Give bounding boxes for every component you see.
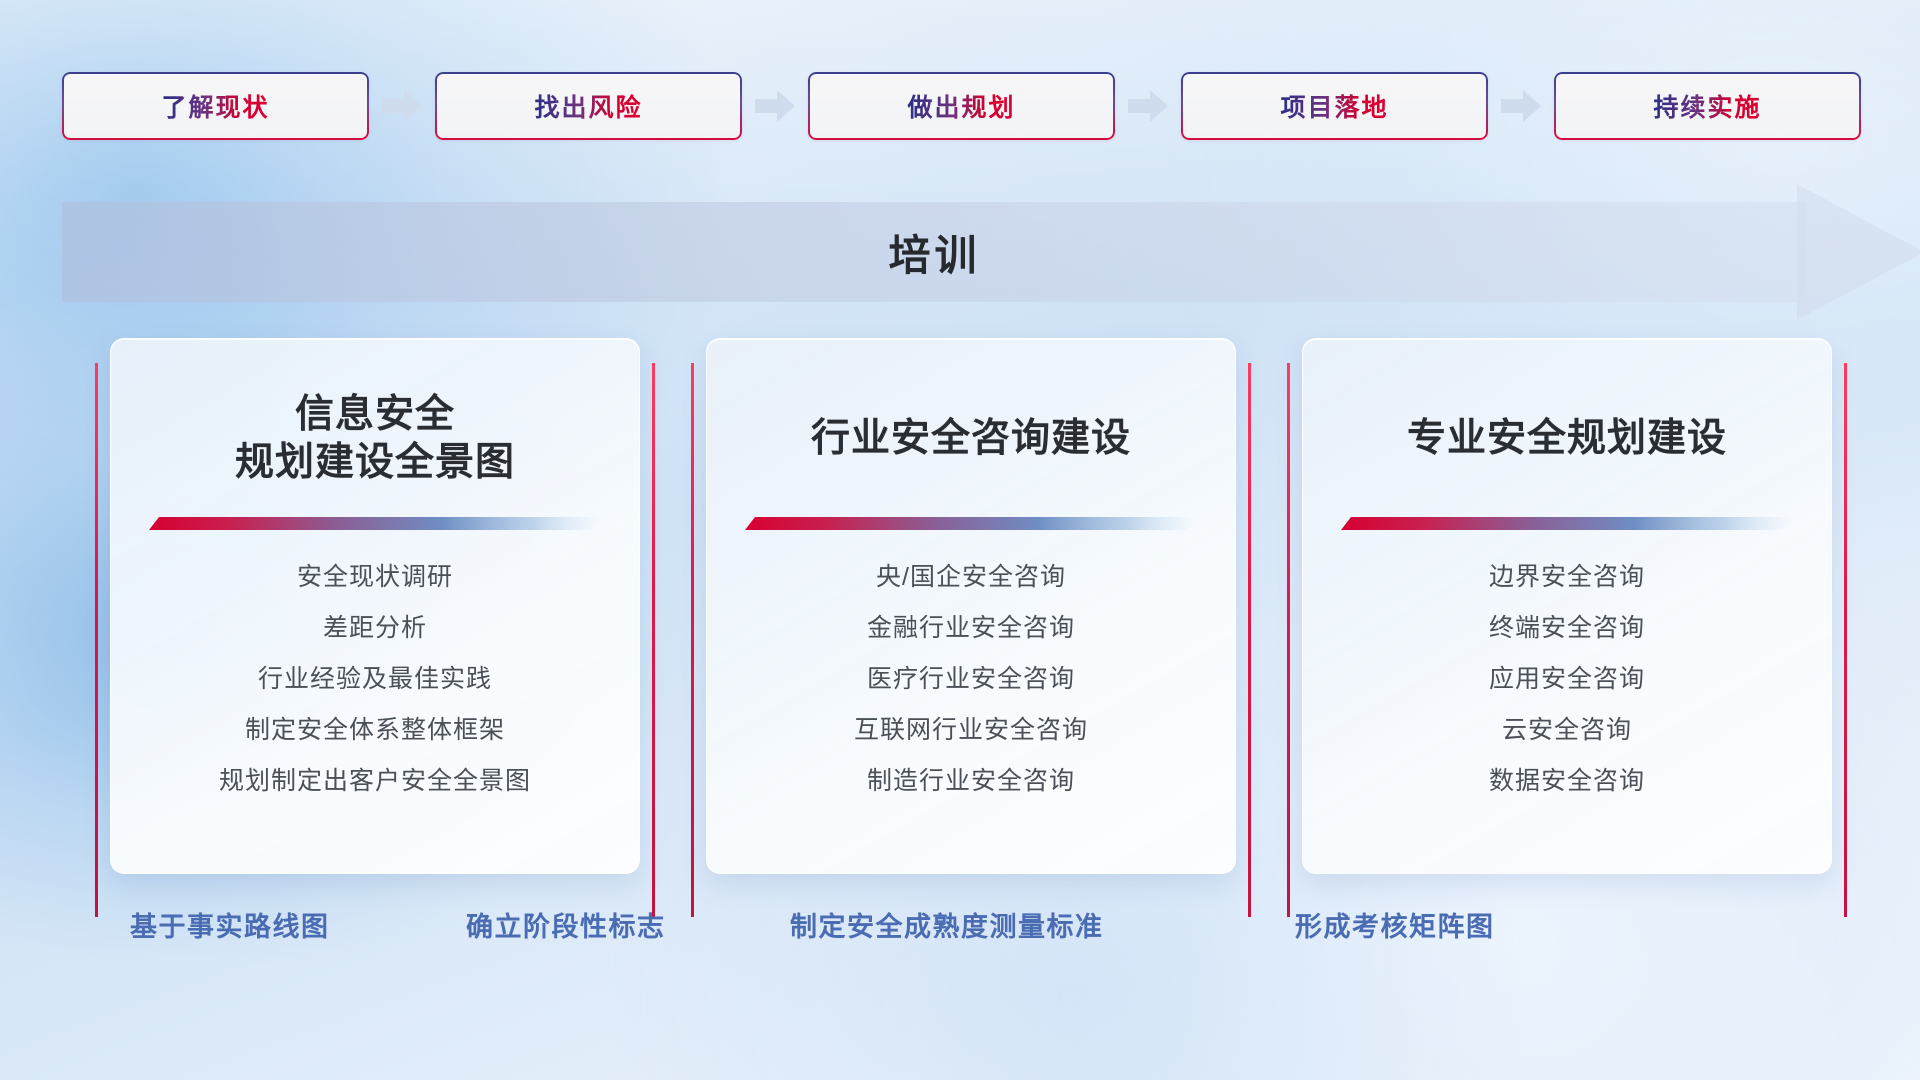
- list-item: 互联网行业安全咨询: [854, 705, 1088, 756]
- training-banner: 培训: [62, 202, 1862, 302]
- process-step-row: 了解现状 找出风险 做出规划 项目落地: [62, 72, 1862, 140]
- outcome-label-row: 基于事实路线图 确立阶段性标志 制定安全成熟度测量标准 形成考核矩阵图: [0, 905, 1920, 965]
- process-step-4-label: 项目落地: [1280, 88, 1388, 124]
- list-item: 央/国企安全咨询: [876, 552, 1066, 603]
- card-2-divider: [745, 517, 1197, 530]
- process-step-1[interactable]: 了解现状: [62, 72, 369, 140]
- list-item: 终端安全咨询: [1489, 603, 1645, 654]
- card-3-divider: [1341, 517, 1793, 530]
- list-item: 数据安全咨询: [1489, 756, 1645, 807]
- card-2-accent-left: [691, 363, 694, 917]
- solution-card-3[interactable]: 专业安全规划建设: [1302, 338, 1832, 874]
- outcome-label-3: 制定安全成熟度测量标准: [790, 905, 1104, 944]
- list-item: 规划制定出客户安全全景图: [219, 756, 531, 807]
- list-item: 云安全咨询: [1502, 705, 1632, 756]
- process-step-5[interactable]: 持续实施: [1554, 72, 1861, 140]
- outcome-label-2: 确立阶段性标志: [466, 905, 666, 944]
- training-banner-label: 培训: [62, 202, 1807, 302]
- arrow-right-icon: [742, 72, 808, 140]
- slide-stage: 了解现状 找出风险 做出规划 项目落地: [0, 0, 1920, 1080]
- list-item: 行业经验及最佳实践: [258, 654, 492, 705]
- card-1-title-line-1: 信息安全: [295, 391, 455, 439]
- process-step-5-label: 持续实施: [1653, 88, 1761, 124]
- list-item: 医疗行业安全咨询: [867, 654, 1075, 705]
- list-item: 边界安全咨询: [1489, 552, 1645, 603]
- process-step-3[interactable]: 做出规划: [808, 72, 1115, 140]
- card-1-title-line-2: 规划建设全景图: [235, 439, 515, 487]
- card-1-title: 信息安全 规划建设全景图: [235, 391, 515, 487]
- solution-card-2[interactable]: 行业安全咨询建设: [706, 338, 1236, 874]
- process-step-2[interactable]: 找出风险: [435, 72, 742, 140]
- process-step-1-label: 了解现状: [161, 88, 269, 124]
- arrow-right-icon: [369, 72, 435, 140]
- list-item: 制定安全体系整体框架: [245, 705, 505, 756]
- list-item: 安全现状调研: [297, 552, 453, 603]
- list-item: 制造行业安全咨询: [867, 756, 1075, 807]
- list-item: 差距分析: [323, 603, 427, 654]
- card-3-accent-left: [1287, 363, 1290, 917]
- list-item: 应用安全咨询: [1489, 654, 1645, 705]
- process-step-3-label: 做出规划: [907, 88, 1015, 124]
- list-item: 金融行业安全咨询: [867, 603, 1075, 654]
- outcome-label-4: 形成考核矩阵图: [1295, 905, 1495, 944]
- card-1-accent-right: [652, 363, 655, 917]
- card-1-item-list: 安全现状调研 差距分析 行业经验及最佳实践 制定安全体系整体框架 规划制定出客户…: [145, 552, 605, 807]
- card-2-accent-right: [1248, 363, 1251, 917]
- solution-card-1[interactable]: 信息安全 规划建设全景图: [110, 338, 640, 874]
- card-1-divider: [149, 517, 601, 530]
- process-step-4[interactable]: 项目落地: [1181, 72, 1488, 140]
- outcome-label-1: 基于事实路线图: [130, 905, 330, 944]
- card-3-item-list: 边界安全咨询 终端安全咨询 应用安全咨询 云安全咨询 数据安全咨询: [1337, 552, 1797, 807]
- card-2-title: 行业安全咨询建设: [811, 391, 1131, 487]
- card-3-accent-right: [1844, 363, 1847, 917]
- card-1-accent-left: [95, 363, 98, 917]
- card-2-item-list: 央/国企安全咨询 金融行业安全咨询 医疗行业安全咨询 互联网行业安全咨询 制造行…: [741, 552, 1201, 807]
- solution-card-row: 信息安全 规划建设全景图: [110, 338, 1920, 878]
- training-banner-arrowhead: [1797, 184, 1920, 320]
- arrow-right-icon: [1115, 72, 1181, 140]
- process-step-2-label: 找出风险: [534, 88, 642, 124]
- arrow-right-icon: [1488, 72, 1554, 140]
- card-3-title: 专业安全规划建设: [1407, 391, 1727, 487]
